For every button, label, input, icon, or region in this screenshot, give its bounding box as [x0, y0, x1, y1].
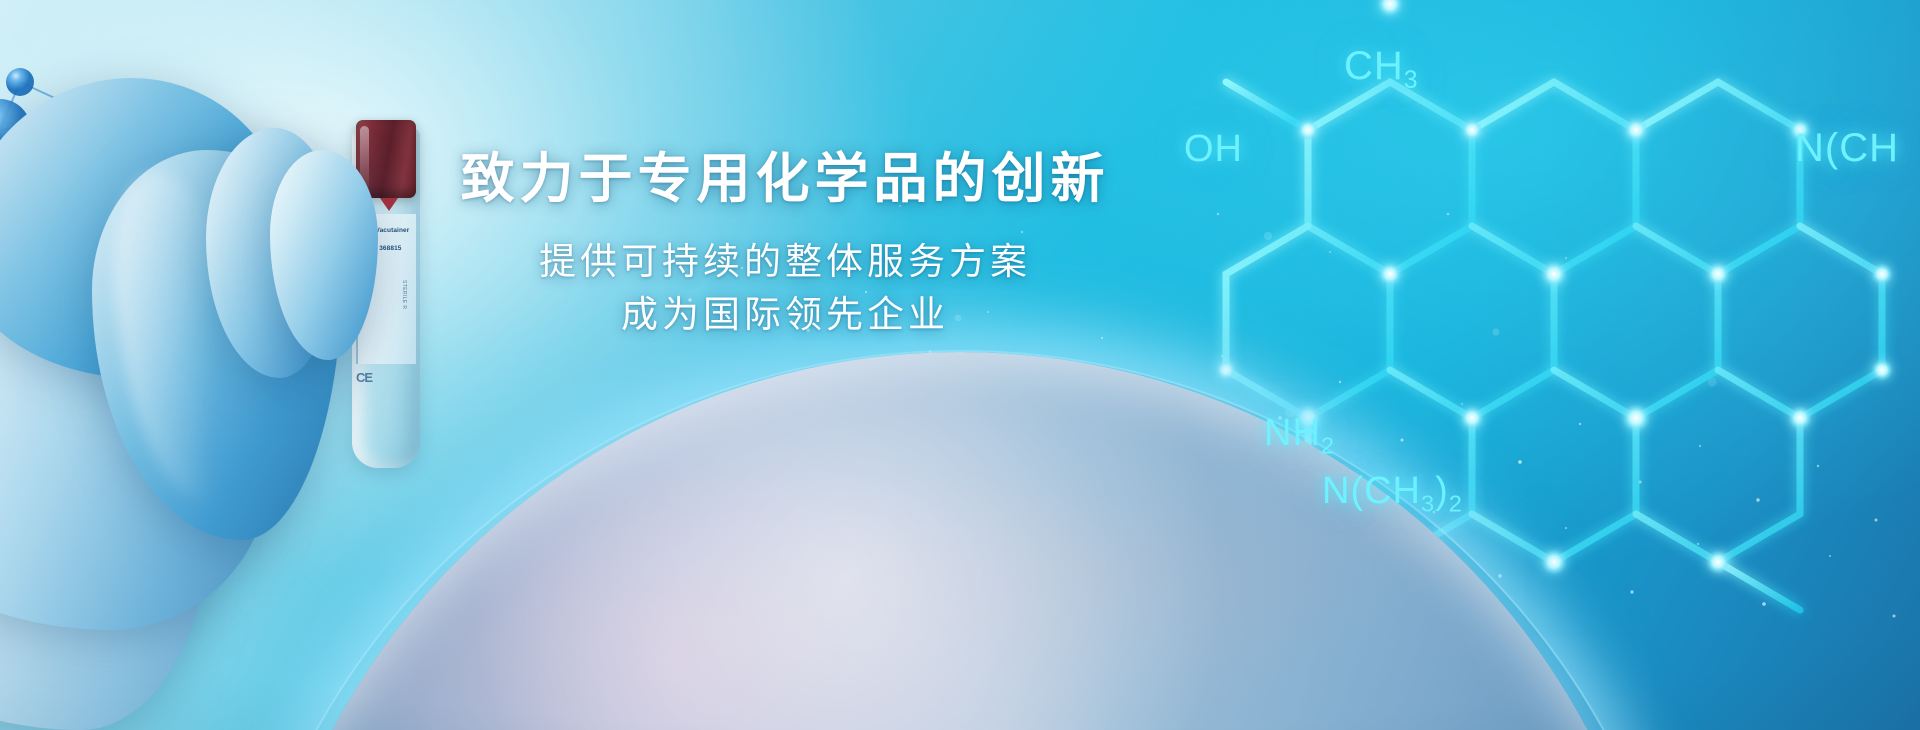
banner-subtitle-line-2: 成为国际领先企业: [0, 289, 1570, 342]
banner-copy: 致力于专用化学品的创新 提供可持续的整体服务方案 成为国际领先企业: [0, 152, 1570, 341]
ce-mark-icon: CE: [356, 370, 372, 385]
page-title: 致力于专用化学品的创新: [0, 152, 1570, 206]
glove-forearm: [0, 380, 210, 730]
chem-label-n-ch-top: N(CH: [1795, 126, 1899, 171]
hero-banner: CH3 OH N(CH NH2 N(CH3)2: [0, 0, 1920, 730]
banner-subtitle-line-1: 提供可持续的整体服务方案: [0, 236, 1570, 289]
earth-globe: [250, 352, 1670, 730]
glove-cuff: [0, 330, 270, 630]
chem-label-ch3: CH3: [1344, 44, 1419, 95]
